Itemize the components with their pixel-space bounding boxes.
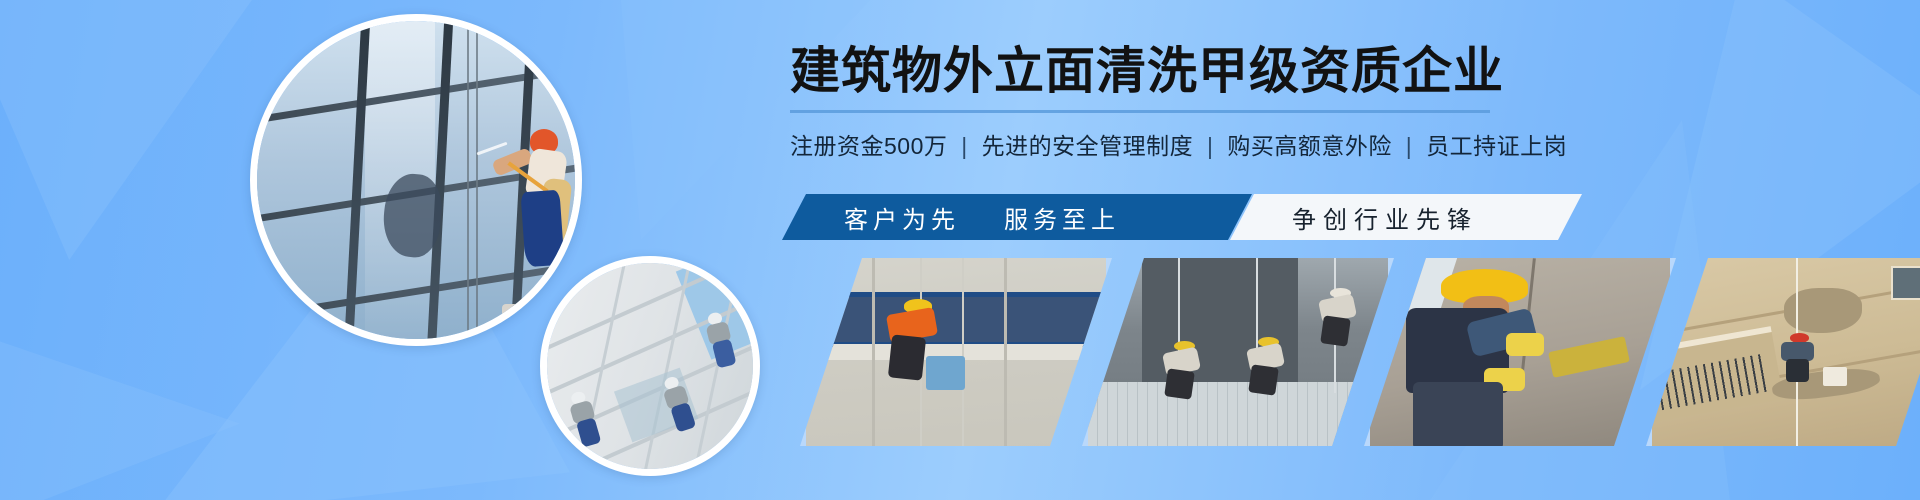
wall-seam	[1646, 276, 1920, 341]
light-facade-illustration	[547, 263, 753, 469]
bucket	[502, 304, 524, 332]
feature-list: 注册资金500万 | 先进的安全管理制度 | 购买高额意外险 | 员工持证上岗	[790, 127, 1590, 161]
feature-item-1: 注册资金500万	[790, 133, 947, 159]
worker-legs	[1248, 365, 1279, 397]
feature-separator: |	[1406, 133, 1412, 159]
photo-plasterer-closeup	[1370, 258, 1670, 446]
work-glove	[1506, 333, 1543, 356]
worker-legs	[1413, 382, 1503, 446]
circle-photo-facade-cleaning	[540, 256, 760, 476]
slogan-bar: 客户为先 服务至上 争创行业先锋	[782, 194, 1582, 240]
worker-figure	[1316, 288, 1361, 344]
photo-panel-4	[1646, 258, 1920, 446]
wall-seam	[1004, 258, 1007, 446]
photo-two-abseilers-dark-wall	[1088, 258, 1388, 446]
worker-figure	[561, 387, 607, 448]
worker-figure	[1244, 337, 1289, 393]
worker-legs	[888, 334, 926, 380]
photo-panel-2	[1082, 258, 1394, 446]
feature-item-2: 先进的安全管理制度	[982, 133, 1194, 159]
feature-separator: |	[961, 133, 967, 159]
wall-seam	[872, 258, 875, 446]
water-spray	[476, 141, 507, 155]
photo-panel-3	[1364, 258, 1676, 446]
page-title: 建筑物外立面清洗甲级资质企业	[790, 46, 1590, 96]
worker-legs	[1164, 368, 1195, 400]
bucket	[1823, 367, 1847, 386]
bg-polygon-1	[0, 0, 280, 260]
worker-legs	[521, 190, 565, 267]
worker-body	[1781, 342, 1814, 361]
glass-facade-illustration	[257, 21, 575, 339]
window-band	[806, 292, 1106, 347]
safety-rope	[962, 258, 964, 446]
tiled-wall-section	[1088, 382, 1388, 446]
feature-item-4: 员工持证上岗	[1426, 133, 1567, 159]
photo-strip	[800, 258, 1920, 446]
slogan-text-2: 服务至上	[1004, 200, 1120, 235]
slogan-text-1: 客户为先	[844, 200, 960, 235]
window	[1891, 266, 1920, 300]
slogan-text-3: 争创行业先锋	[1292, 200, 1478, 235]
worker-legs	[711, 340, 736, 370]
slogan-primary-panel: 客户为先 服务至上	[782, 194, 1252, 240]
paint-bucket	[926, 356, 965, 390]
photo-residential-wall-repair	[1652, 258, 1920, 446]
worker-figure	[1160, 341, 1205, 397]
title-divider	[790, 110, 1490, 113]
feature-separator: |	[1207, 133, 1213, 159]
circle-photo-glass-curtain-wall	[250, 14, 582, 346]
promo-banner: 建筑物外立面清洗甲级资质企业 注册资金500万 | 先进的安全管理制度 | 购买…	[0, 0, 1920, 500]
worker-legs	[1786, 359, 1810, 382]
photo-panel-1	[800, 258, 1112, 446]
worker-legs	[1320, 316, 1351, 348]
worker-legs	[575, 418, 600, 448]
slogan-highlight-panel: 争创行业先锋	[1230, 194, 1582, 240]
photo-rope-access-painter	[806, 258, 1106, 446]
banner-text-block: 建筑物外立面清洗甲级资质企业 注册资金500万 | 先进的安全管理制度 | 购买…	[790, 46, 1590, 161]
worker-legs	[670, 403, 696, 433]
worker-figure	[1394, 269, 1550, 446]
trowel-tool	[1548, 337, 1630, 379]
worker-figure	[1778, 333, 1820, 382]
feature-item-3: 购买高额意外险	[1227, 133, 1392, 159]
